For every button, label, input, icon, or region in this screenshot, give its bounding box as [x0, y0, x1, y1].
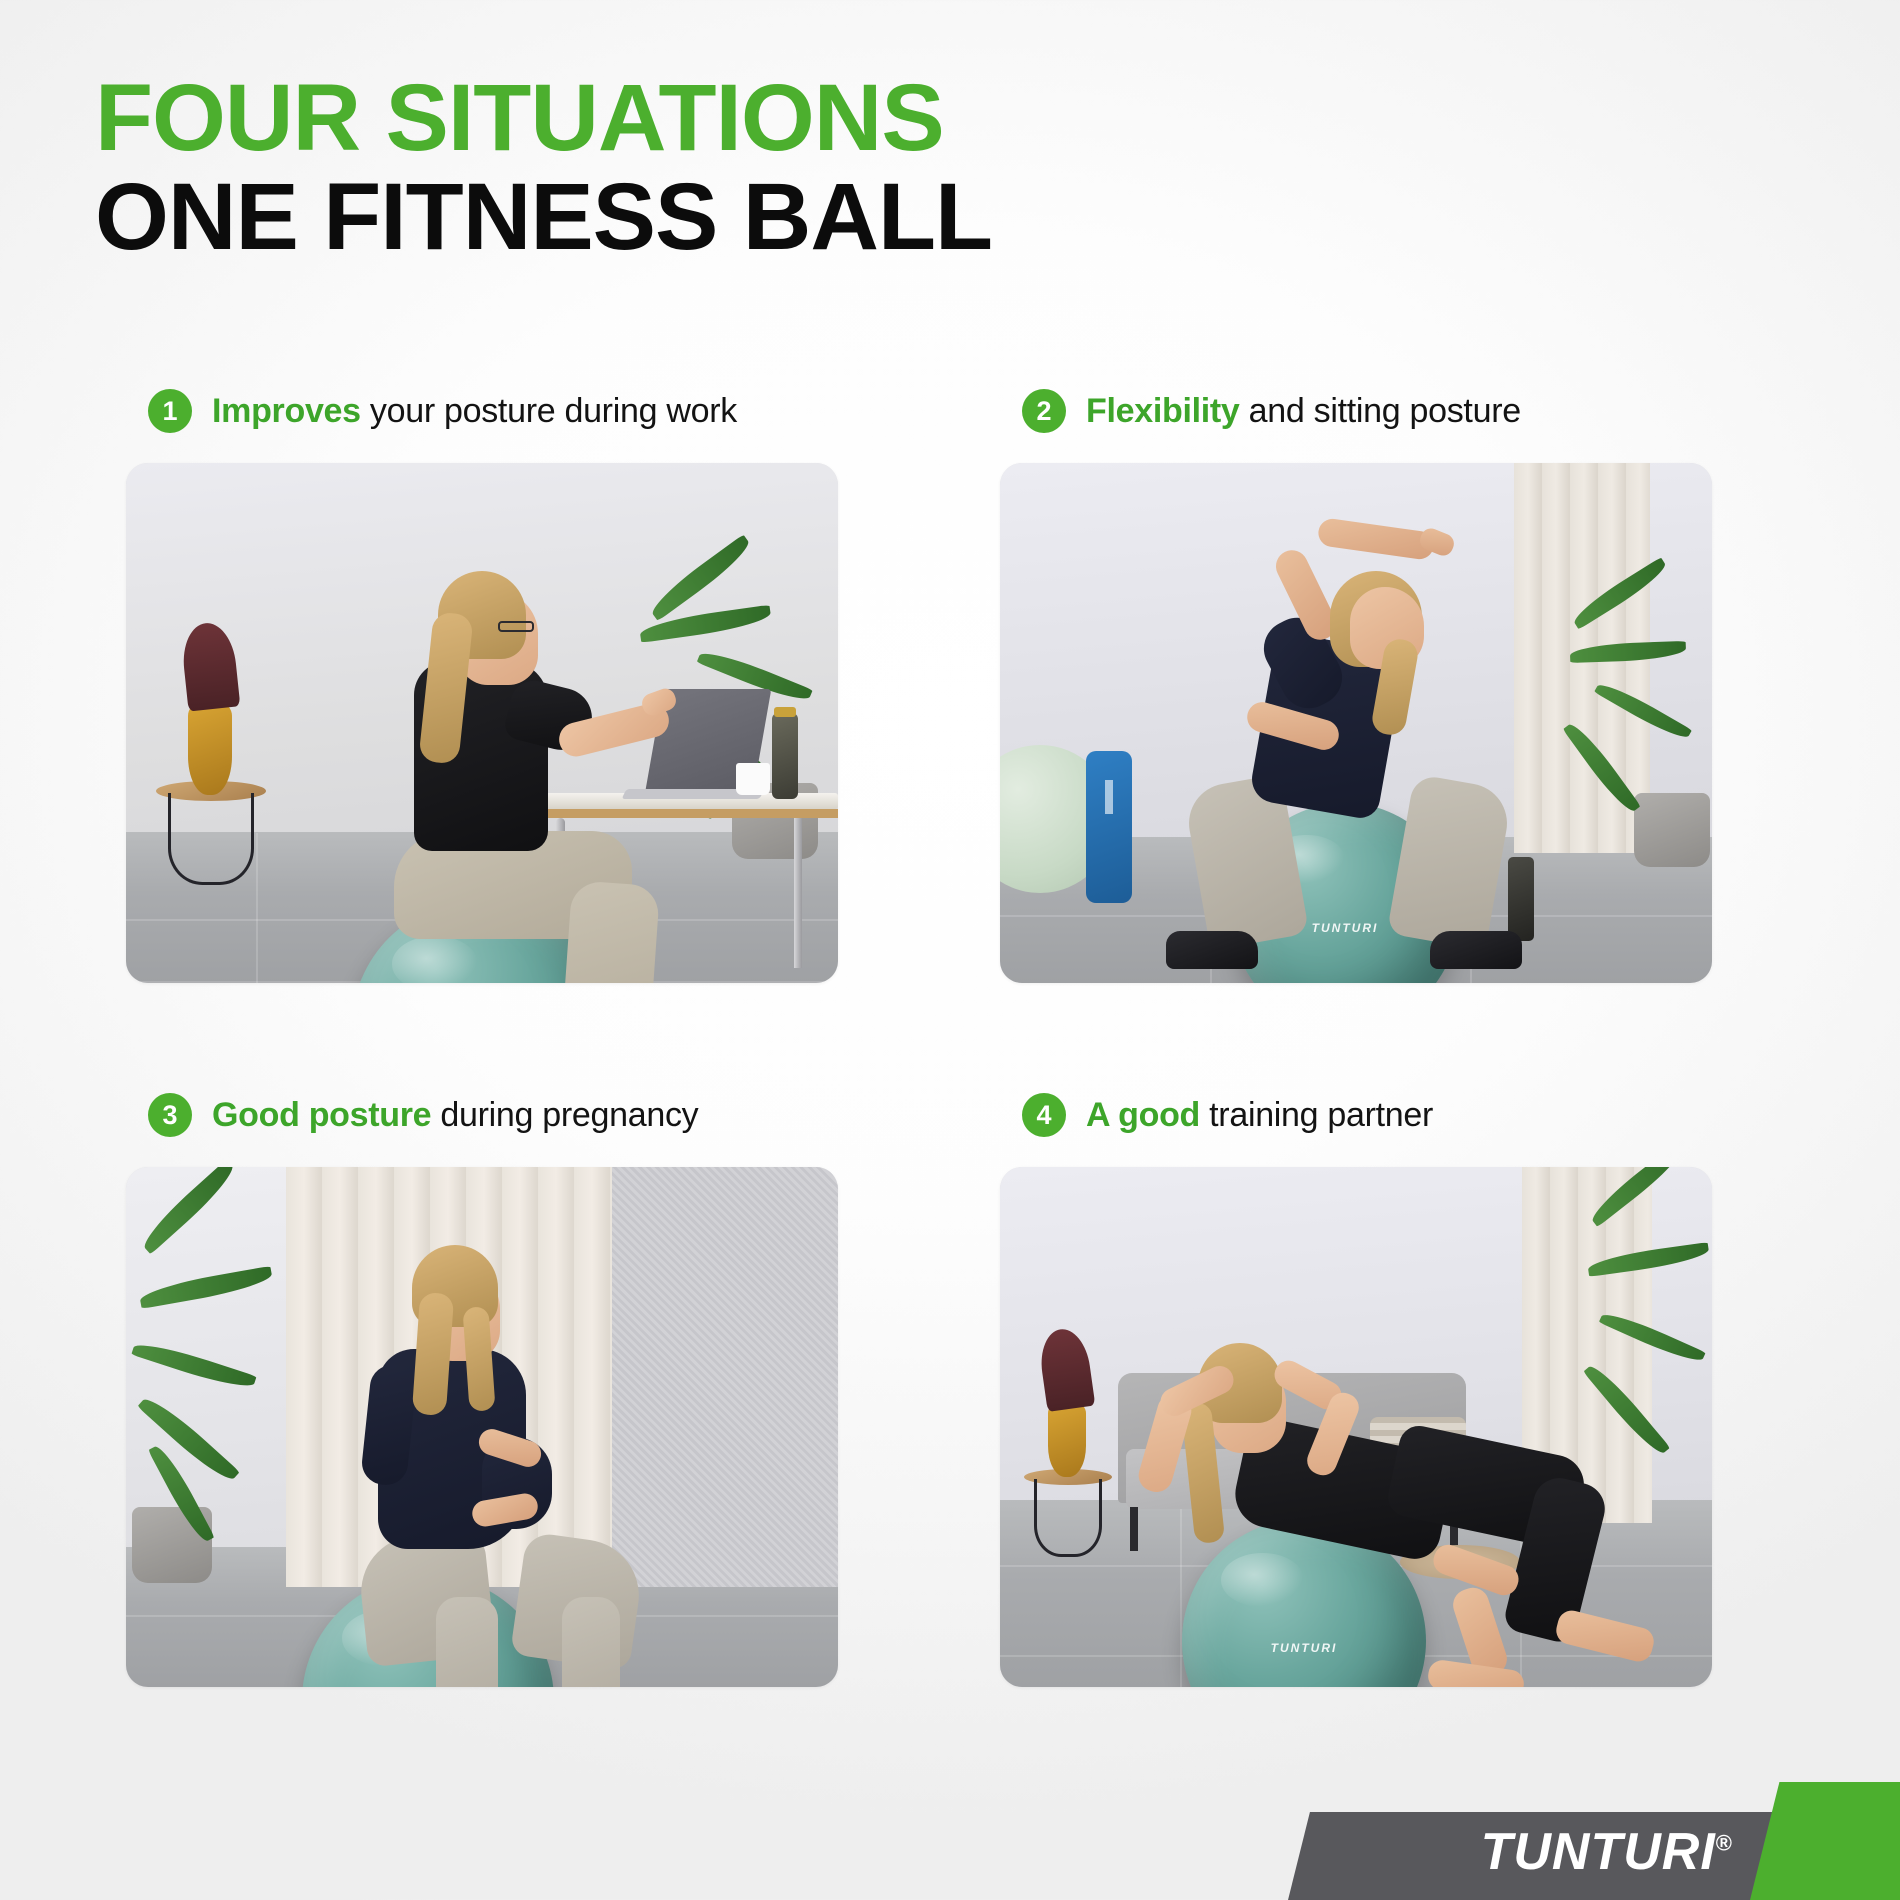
caption-text-4: A good training partner: [1086, 1096, 1433, 1135]
situation-card-4: 4 A good training partner: [1000, 1079, 1712, 1735]
caption-4: 4 A good training partner: [1000, 1079, 1712, 1151]
caption-text-2: Flexibility and sitting posture: [1086, 392, 1521, 431]
number-badge-3: 3: [148, 1093, 192, 1137]
situations-grid: 1 Improves your posture during work: [126, 375, 1774, 1735]
caption-highlight-1: Improves: [212, 392, 361, 430]
caption-highlight-2: Flexibility: [1086, 392, 1240, 430]
brand-name-text: TUNTURI: [1481, 1823, 1716, 1881]
photo-3: TUNTURI: [126, 1167, 838, 1687]
number-badge-2: 2: [1022, 389, 1066, 433]
caption-highlight-4: A good: [1086, 1096, 1200, 1134]
ball-logo-4: TUNTURI: [1271, 1641, 1338, 1655]
caption-text-3: Good posture during pregnancy: [212, 1096, 698, 1135]
brand-name: TUNTURI®: [1481, 1822, 1732, 1882]
number-badge-4: 4: [1022, 1093, 1066, 1137]
page-title: FOUR SITUATIONS ONE FITNESS BALL: [95, 72, 992, 266]
logo-green-shape: [1750, 1782, 1900, 1900]
situation-card-3: 3 Good posture during pregnancy: [126, 1079, 838, 1735]
registered-mark: ®: [1716, 1831, 1732, 1856]
ball-logo-2: TUNTURI: [1312, 921, 1379, 935]
photo-1: TUNTURI: [126, 463, 838, 983]
caption-rest-4: training partner: [1200, 1096, 1433, 1134]
brand-logo: TUNTURI®: [1260, 1782, 1900, 1900]
caption-2: 2 Flexibility and sitting posture: [1000, 375, 1712, 447]
photo-4: TUNTURI: [1000, 1167, 1712, 1687]
caption-rest-2: and sitting posture: [1240, 392, 1521, 430]
number-badge-1: 1: [148, 389, 192, 433]
situation-card-2: 2 Flexibility and sitting posture: [1000, 375, 1712, 1031]
headline-line-1: FOUR SITUATIONS: [95, 72, 992, 165]
caption-text-1: Improves your posture during work: [212, 392, 737, 431]
caption-1: 1 Improves your posture during work: [126, 375, 838, 447]
headline-line-2: ONE FITNESS BALL: [95, 169, 992, 266]
caption-highlight-3: Good posture: [212, 1096, 431, 1134]
caption-rest-3: during pregnancy: [431, 1096, 698, 1134]
caption-rest-1: your posture during work: [361, 392, 737, 430]
situation-card-1: 1 Improves your posture during work: [126, 375, 838, 1031]
caption-3: 3 Good posture during pregnancy: [126, 1079, 838, 1151]
photo-2: TUNTURI: [1000, 463, 1712, 983]
